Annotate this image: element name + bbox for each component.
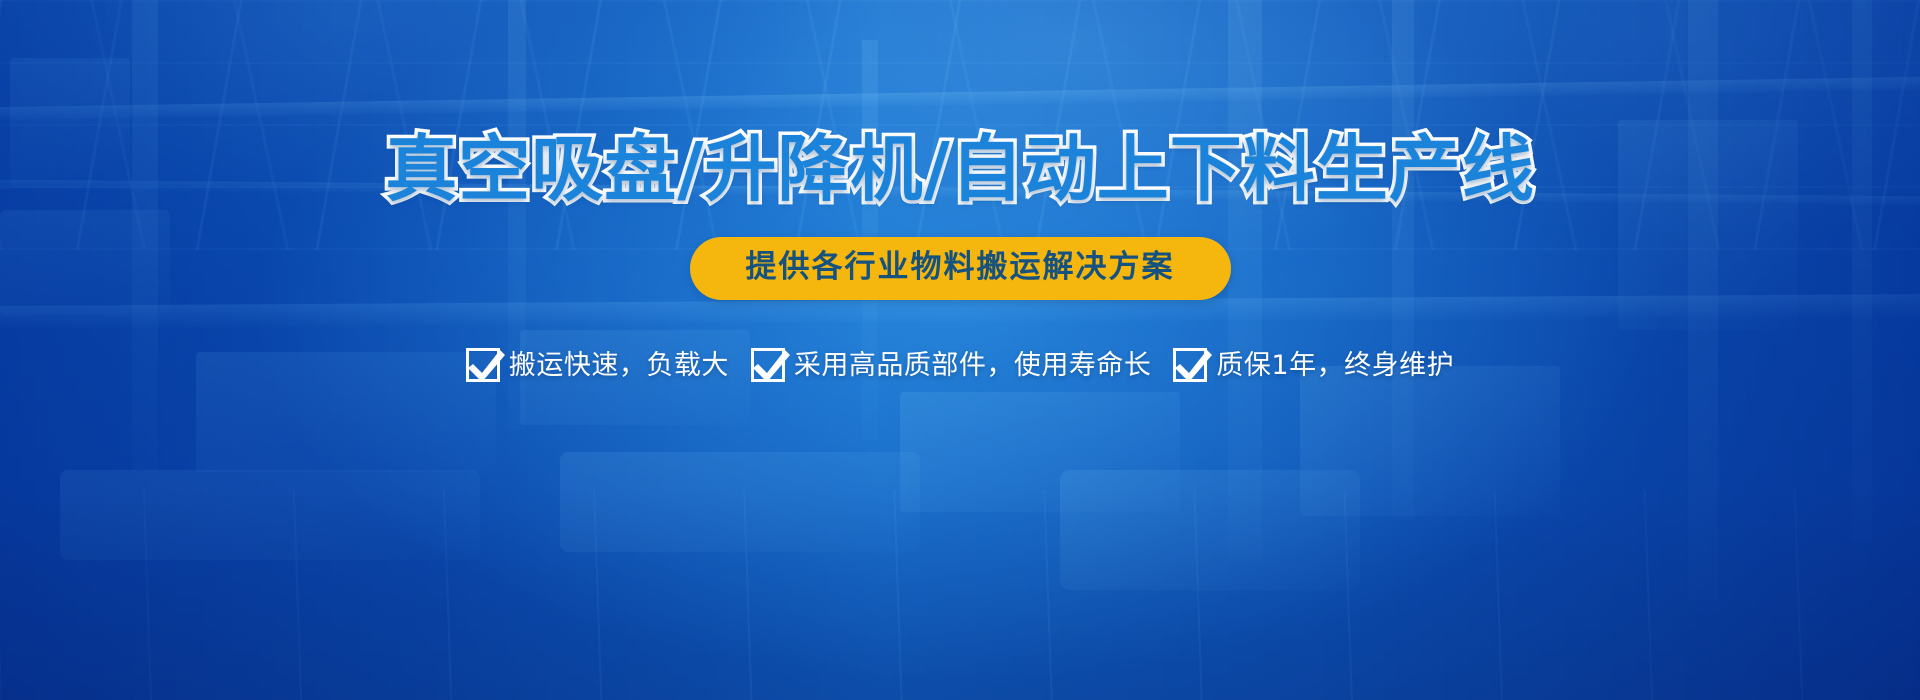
check-icon	[1173, 348, 1207, 382]
banner-headline: 真空吸盘/升降机/自动上下料生产线	[385, 133, 1535, 205]
check-icon	[751, 348, 785, 382]
feature-item-1: 搬运快速，负载大	[466, 348, 729, 382]
feature-label: 质保1年，终身维护	[1216, 352, 1454, 379]
feature-label: 采用高品质部件，使用寿命长	[794, 352, 1152, 379]
hero-banner: 真空吸盘/升降机/自动上下料生产线 提供各行业物料搬运解决方案 搬运快速，负载大…	[0, 0, 1920, 700]
feature-label: 搬运快速，负载大	[509, 352, 729, 379]
feature-list: 搬运快速，负载大 采用高品质部件，使用寿命长 质保1年，终身维护	[466, 348, 1454, 382]
check-icon	[466, 348, 500, 382]
feature-item-2: 采用高品质部件，使用寿命长	[751, 348, 1152, 382]
feature-item-3: 质保1年，终身维护	[1173, 348, 1454, 382]
banner-subtitle-pill: 提供各行业物料搬运解决方案	[690, 237, 1231, 300]
banner-content: 真空吸盘/升降机/自动上下料生产线 提供各行业物料搬运解决方案 搬运快速，负载大…	[0, 0, 1920, 700]
